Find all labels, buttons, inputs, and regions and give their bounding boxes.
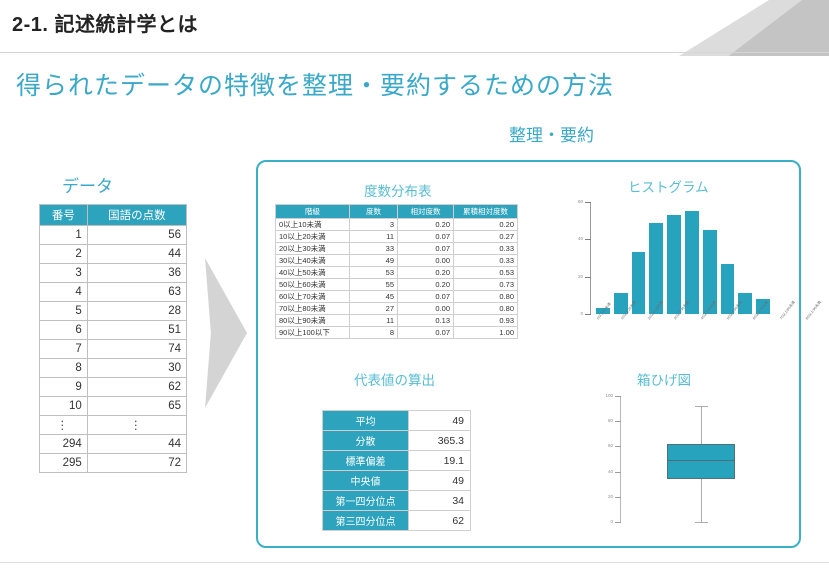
table-row: 第三四分位点62: [323, 511, 471, 531]
table-row: 60以上70未満450.070.80: [276, 291, 518, 303]
axis-tick-label: 80: [608, 418, 613, 423]
statistic-label: 分散: [323, 431, 409, 451]
histogram-bar: [685, 211, 699, 314]
table-cell: 74: [87, 340, 186, 359]
table-cell: 63: [87, 283, 186, 302]
table-cell: 1.00: [454, 327, 518, 339]
histogram-x-labels: 0以上10未満10以上20未満20以上30未満30以上40未満40以上50未満5…: [592, 316, 774, 323]
axis-tick-label: 20: [578, 274, 583, 279]
table-row: 50以上60未満550.200.73: [276, 279, 518, 291]
table-cell: 0.00: [398, 303, 454, 315]
table-cell: 0.33: [454, 243, 518, 255]
histogram-heading: ヒストグラム: [628, 176, 709, 196]
table-row: 29444: [40, 435, 187, 454]
table-cell: 0.00: [398, 255, 454, 267]
table-row: 0以上10未満30.200.20: [276, 219, 518, 231]
table-row: 90以上100以下80.071.00: [276, 327, 518, 339]
table-row: 第一四分位点34: [323, 491, 471, 511]
table-cell: 33: [350, 243, 398, 255]
table-cell: 8: [350, 327, 398, 339]
table-cell: 295: [40, 454, 88, 473]
column-header-0: 番号: [40, 205, 88, 226]
table-cell: 44: [87, 245, 186, 264]
flow-arrow-icon: [205, 258, 247, 408]
column-header-0: 階級: [276, 205, 350, 219]
table-cell: 0.20: [454, 219, 518, 231]
column-header-3: 累積相対度数: [454, 205, 518, 219]
table-row: 830: [40, 359, 187, 378]
table-cell: 3: [350, 219, 398, 231]
statistic-value: 62: [409, 511, 471, 531]
table-cell: 45: [350, 291, 398, 303]
table-row: 774: [40, 340, 187, 359]
column-header-1: 度数: [350, 205, 398, 219]
boxplot-heading: 箱ひげ図: [637, 369, 691, 389]
axis-tick-label: 60: [578, 199, 583, 204]
table-row: 分散365.3: [323, 431, 471, 451]
table-row: 標準偏差19.1: [323, 451, 471, 471]
table-cell: 2: [40, 245, 88, 264]
table-row: 20以上30未満330.070.33: [276, 243, 518, 255]
axis-tick-label: 0: [580, 311, 583, 316]
table-cell: 10: [40, 397, 88, 416]
boxplot-plot-area: [621, 396, 788, 522]
table-cell: 65: [87, 397, 186, 416]
table-cell: 0.13: [398, 315, 454, 327]
frequency-table-heading: 度数分布表: [364, 180, 432, 200]
statistic-value: 34: [409, 491, 471, 511]
axis-tick-label: 60: [608, 443, 613, 448]
table-cell: 0.27: [454, 231, 518, 243]
table-cell: 50以上60未満: [276, 279, 350, 291]
statistic-value: 49: [409, 411, 471, 431]
boxplot-box: [667, 444, 735, 479]
table-cell: 0.07: [398, 327, 454, 339]
process-label: 整理・要約: [509, 121, 594, 146]
table-row: 962: [40, 378, 187, 397]
table-cell: 72: [87, 454, 186, 473]
table-cell: 7: [40, 340, 88, 359]
statistic-value: 49: [409, 471, 471, 491]
table-cell: 51: [87, 321, 186, 340]
axis-tick-label: 20: [608, 494, 613, 499]
footer-divider: [0, 562, 829, 563]
table-cell: 0.07: [398, 291, 454, 303]
table-cell: 1: [40, 226, 88, 245]
table-row: 528: [40, 302, 187, 321]
table-cell: 294: [40, 435, 88, 454]
table-cell: 0.73: [454, 279, 518, 291]
table-row: 中央値49: [323, 471, 471, 491]
statistic-value: 19.1: [409, 451, 471, 471]
raw-data-table: 番号国語の点数 1562443364635286517748309621065⋮…: [39, 204, 187, 473]
statistic-label: 第三四分位点: [323, 511, 409, 531]
table-row: ⋮⋮: [40, 416, 187, 435]
slide: 2-1. 記述統計学とは 得られたデータの特徴を整理・要約するための方法 整理・…: [0, 0, 829, 575]
axis-tick: 40: [585, 239, 591, 240]
table-cell: 30以上40未満: [276, 255, 350, 267]
statistic-label: 中央値: [323, 471, 409, 491]
table-row: 244: [40, 245, 187, 264]
boxplot-whisker-cap: [695, 522, 708, 523]
table-cell: ⋮: [40, 416, 88, 435]
table-row: 156: [40, 226, 187, 245]
table-cell: 11: [350, 231, 398, 243]
table-cell: 55: [350, 279, 398, 291]
table-cell: 30: [87, 359, 186, 378]
statistic-label: 平均: [323, 411, 409, 431]
table-cell: 40以上50未満: [276, 267, 350, 279]
table-cell: 0.80: [454, 303, 518, 315]
table-cell: 53: [350, 267, 398, 279]
table-cell: 44: [87, 435, 186, 454]
table-cell: 0.07: [398, 231, 454, 243]
table-cell: 10以上20未満: [276, 231, 350, 243]
table-cell: 0.93: [454, 315, 518, 327]
data-section-label: データ: [62, 172, 113, 197]
histogram-bar: [667, 215, 681, 314]
page-title: 2-1. 記述統計学とは: [12, 8, 198, 37]
axis-tick-label: 80以上90未満: [805, 300, 823, 321]
axis-tick-label: 40: [608, 469, 613, 474]
statistic-label: 標準偏差: [323, 451, 409, 471]
table-row: 80以上90未満110.130.93: [276, 315, 518, 327]
histogram-y-axis: [590, 202, 591, 314]
table-cell: 62: [87, 378, 186, 397]
axis-tick-label: 40: [578, 236, 583, 241]
histogram-chart: 0204060 0以上10未満10以上20未満20以上30未満30以上40未満4…: [566, 198, 784, 358]
page-subtitle: 得られたデータの特徴を整理・要約するための方法: [16, 66, 614, 102]
histogram-bar: [721, 264, 735, 314]
table-cell: 8: [40, 359, 88, 378]
table-header-row: 番号国語の点数: [40, 205, 187, 226]
axis-tick: 60: [585, 202, 591, 203]
table-cell: 0.20: [398, 279, 454, 291]
table-cell: 60以上70未満: [276, 291, 350, 303]
table-cell: 70以上80未満: [276, 303, 350, 315]
table-cell: 3: [40, 264, 88, 283]
statistic-value: 365.3: [409, 431, 471, 451]
table-cell: 0.33: [454, 255, 518, 267]
table-row: 40以上50未満530.200.53: [276, 267, 518, 279]
table-cell: 27: [350, 303, 398, 315]
boxplot-chart: 020406080100: [598, 392, 788, 540]
column-header-1: 国語の点数: [87, 205, 186, 226]
table-row: 10以上20未満110.070.27: [276, 231, 518, 243]
table-cell: 36: [87, 264, 186, 283]
title-divider: [0, 52, 829, 53]
axis-tick-label: 100: [605, 393, 613, 398]
table-cell: 0.53: [454, 267, 518, 279]
table-cell: 56: [87, 226, 186, 245]
table-cell: 4: [40, 283, 88, 302]
table-row: 651: [40, 321, 187, 340]
table-row: 336: [40, 264, 187, 283]
table-cell: 0.07: [398, 243, 454, 255]
table-row: 29572: [40, 454, 187, 473]
table-cell: ⋮: [87, 416, 186, 435]
table-cell: 5: [40, 302, 88, 321]
histogram-plot-area: [592, 202, 774, 314]
table-cell: 0.20: [398, 219, 454, 231]
table-cell: 11: [350, 315, 398, 327]
table-row: 30以上40未満490.000.33: [276, 255, 518, 267]
table-row: 平均49: [323, 411, 471, 431]
axis-tick-label: 0: [610, 519, 613, 524]
table-cell: 90以上100以下: [276, 327, 350, 339]
axis-tick: 0: [615, 522, 621, 523]
axis-tick: 20: [585, 277, 591, 278]
column-header-2: 相対度数: [398, 205, 454, 219]
boxplot-whisker-cap: [695, 406, 708, 407]
statistic-label: 第一四分位点: [323, 491, 409, 511]
histogram-bars: [592, 202, 774, 314]
table-row: 70以上80未満270.000.80: [276, 303, 518, 315]
table-cell: 0.20: [398, 267, 454, 279]
statistics-heading: 代表値の算出: [354, 369, 435, 389]
table-cell: 6: [40, 321, 88, 340]
table-header-row: 階級度数相対度数累積相対度数: [276, 205, 518, 219]
table-row: 1065: [40, 397, 187, 416]
table-cell: 0.80: [454, 291, 518, 303]
table-cell: 80以上90未満: [276, 315, 350, 327]
summary-statistics-table: 平均49分散365.3標準偏差19.1中央値49第一四分位点34第三四分位点62: [322, 410, 471, 531]
frequency-distribution-table: 階級度数相対度数累積相対度数 0以上10未満30.200.2010以上20未満1…: [275, 204, 518, 339]
table-cell: 49: [350, 255, 398, 267]
table-row: 463: [40, 283, 187, 302]
boxplot-median-line: [667, 460, 735, 461]
axis-tick: 0: [585, 314, 591, 315]
table-cell: 20以上30未満: [276, 243, 350, 255]
table-cell: 9: [40, 378, 88, 397]
table-cell: 0以上10未満: [276, 219, 350, 231]
table-cell: 28: [87, 302, 186, 321]
